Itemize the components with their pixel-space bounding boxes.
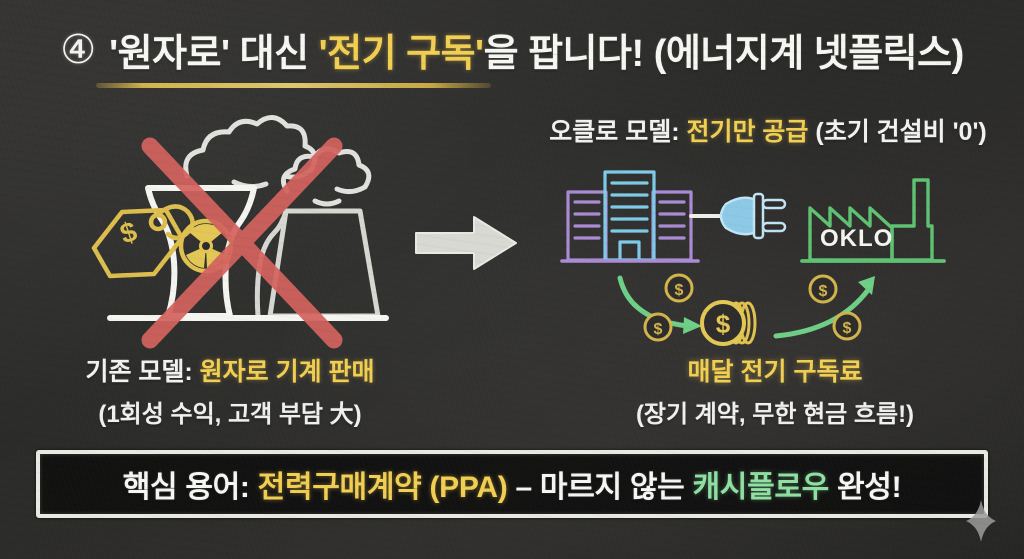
title-part2: 을 팝니다! (에너지계 넷플릭스): [484, 33, 964, 75]
banner-highlight-green: 캐시플로우: [692, 471, 829, 504]
small-coin-b: $: [645, 314, 671, 340]
price-tag-dollar-icon: $: [94, 206, 193, 276]
oklo-model-heading: 오클로 모델: 전기만 공급 (초기 건설비 '0'): [512, 112, 1024, 148]
power-plug-icon: [721, 194, 785, 238]
smoke-clouds-icon: [186, 117, 369, 204]
page-title: ④ '원자로' 대신 '전기 구독'을 팝니다! (에너지계 넷플릭스): [0, 22, 1024, 77]
left-caption-highlight: 원자로 기계 판매: [200, 358, 375, 386]
oklo-factory-label: OKLO: [820, 225, 893, 252]
banner-prefix: 핵심 용어:: [123, 471, 258, 504]
left-caption-line2: (1회성 수익, 고객 부담 大): [0, 394, 460, 429]
title-text: '원자로' 대신 '전기 구독'을 팝니다! (에너지계 넷플릭스): [109, 22, 964, 77]
cooling-tower-rear: [257, 211, 378, 316]
office-buildings-icon: [562, 172, 698, 261]
nuclear-plant-crossed-out-illustration: $: [82, 106, 412, 351]
svg-text:$: $: [654, 321, 663, 338]
svg-text:$: $: [116, 215, 141, 249]
svg-text:$: $: [843, 320, 852, 337]
title-number-icon: ④: [60, 30, 96, 70]
banner-highlight-yellow: 전력구매계약 (PPA): [258, 471, 508, 504]
key-term-banner-text: 핵심 용어: 전력구매계약 (PPA) – 마르지 않는 캐시플로우 완성!: [123, 462, 902, 506]
svg-text:$: $: [716, 309, 731, 339]
left-caption-prefix: 기존 모델:: [85, 358, 199, 386]
svg-text:$: $: [675, 282, 684, 299]
gold-coin-stack-icon: $: [702, 302, 755, 344]
left-caption: 기존 모델: 원자로 기계 판매 (1회성 수익, 고객 부담 大): [0, 352, 460, 429]
left-caption-line1: 기존 모델: 원자로 기계 판매: [0, 352, 460, 388]
title-underline: [96, 83, 491, 88]
right-caption-line2: (장기 계약, 무한 현금 흐름!): [540, 394, 1010, 429]
right-caption-line1: 매달 전기 구독료: [540, 352, 1010, 388]
banner-middle: – 마르지 않는: [507, 471, 692, 504]
banner-suffix: 완성!: [829, 471, 901, 504]
title-highlight: '전기 구독': [319, 33, 484, 75]
svg-text:$: $: [819, 283, 828, 300]
small-coin-d: $: [834, 313, 860, 339]
oklo-heading-prefix: 오클로 모델:: [549, 118, 686, 146]
small-coin-a: $: [666, 275, 692, 301]
title-part1: '원자로' 대신: [109, 33, 319, 75]
oklo-heading-suffix: (초기 건설비 '0'): [808, 118, 986, 146]
right-caption: 매달 전기 구독료 (장기 계약, 무한 현금 흐름!): [540, 352, 1010, 429]
oklo-heading-highlight: 전기만 공급: [686, 118, 808, 146]
four-point-star-sparkle-icon: [966, 500, 996, 542]
key-term-banner: 핵심 용어: 전력구매계약 (PPA) – 마르지 않는 캐시플로우 완성!: [36, 450, 988, 518]
right-arrow-icon: [412, 212, 522, 274]
slide-root: ④ '원자로' 대신 '전기 구독'을 팝니다! (에너지계 넷플릭스) $: [0, 0, 1024, 559]
green-arrow-down-head: [683, 317, 702, 334]
electricity-subscription-flow-illustration: OKLO $ $ $: [548, 160, 998, 355]
small-coin-c: $: [810, 276, 836, 302]
